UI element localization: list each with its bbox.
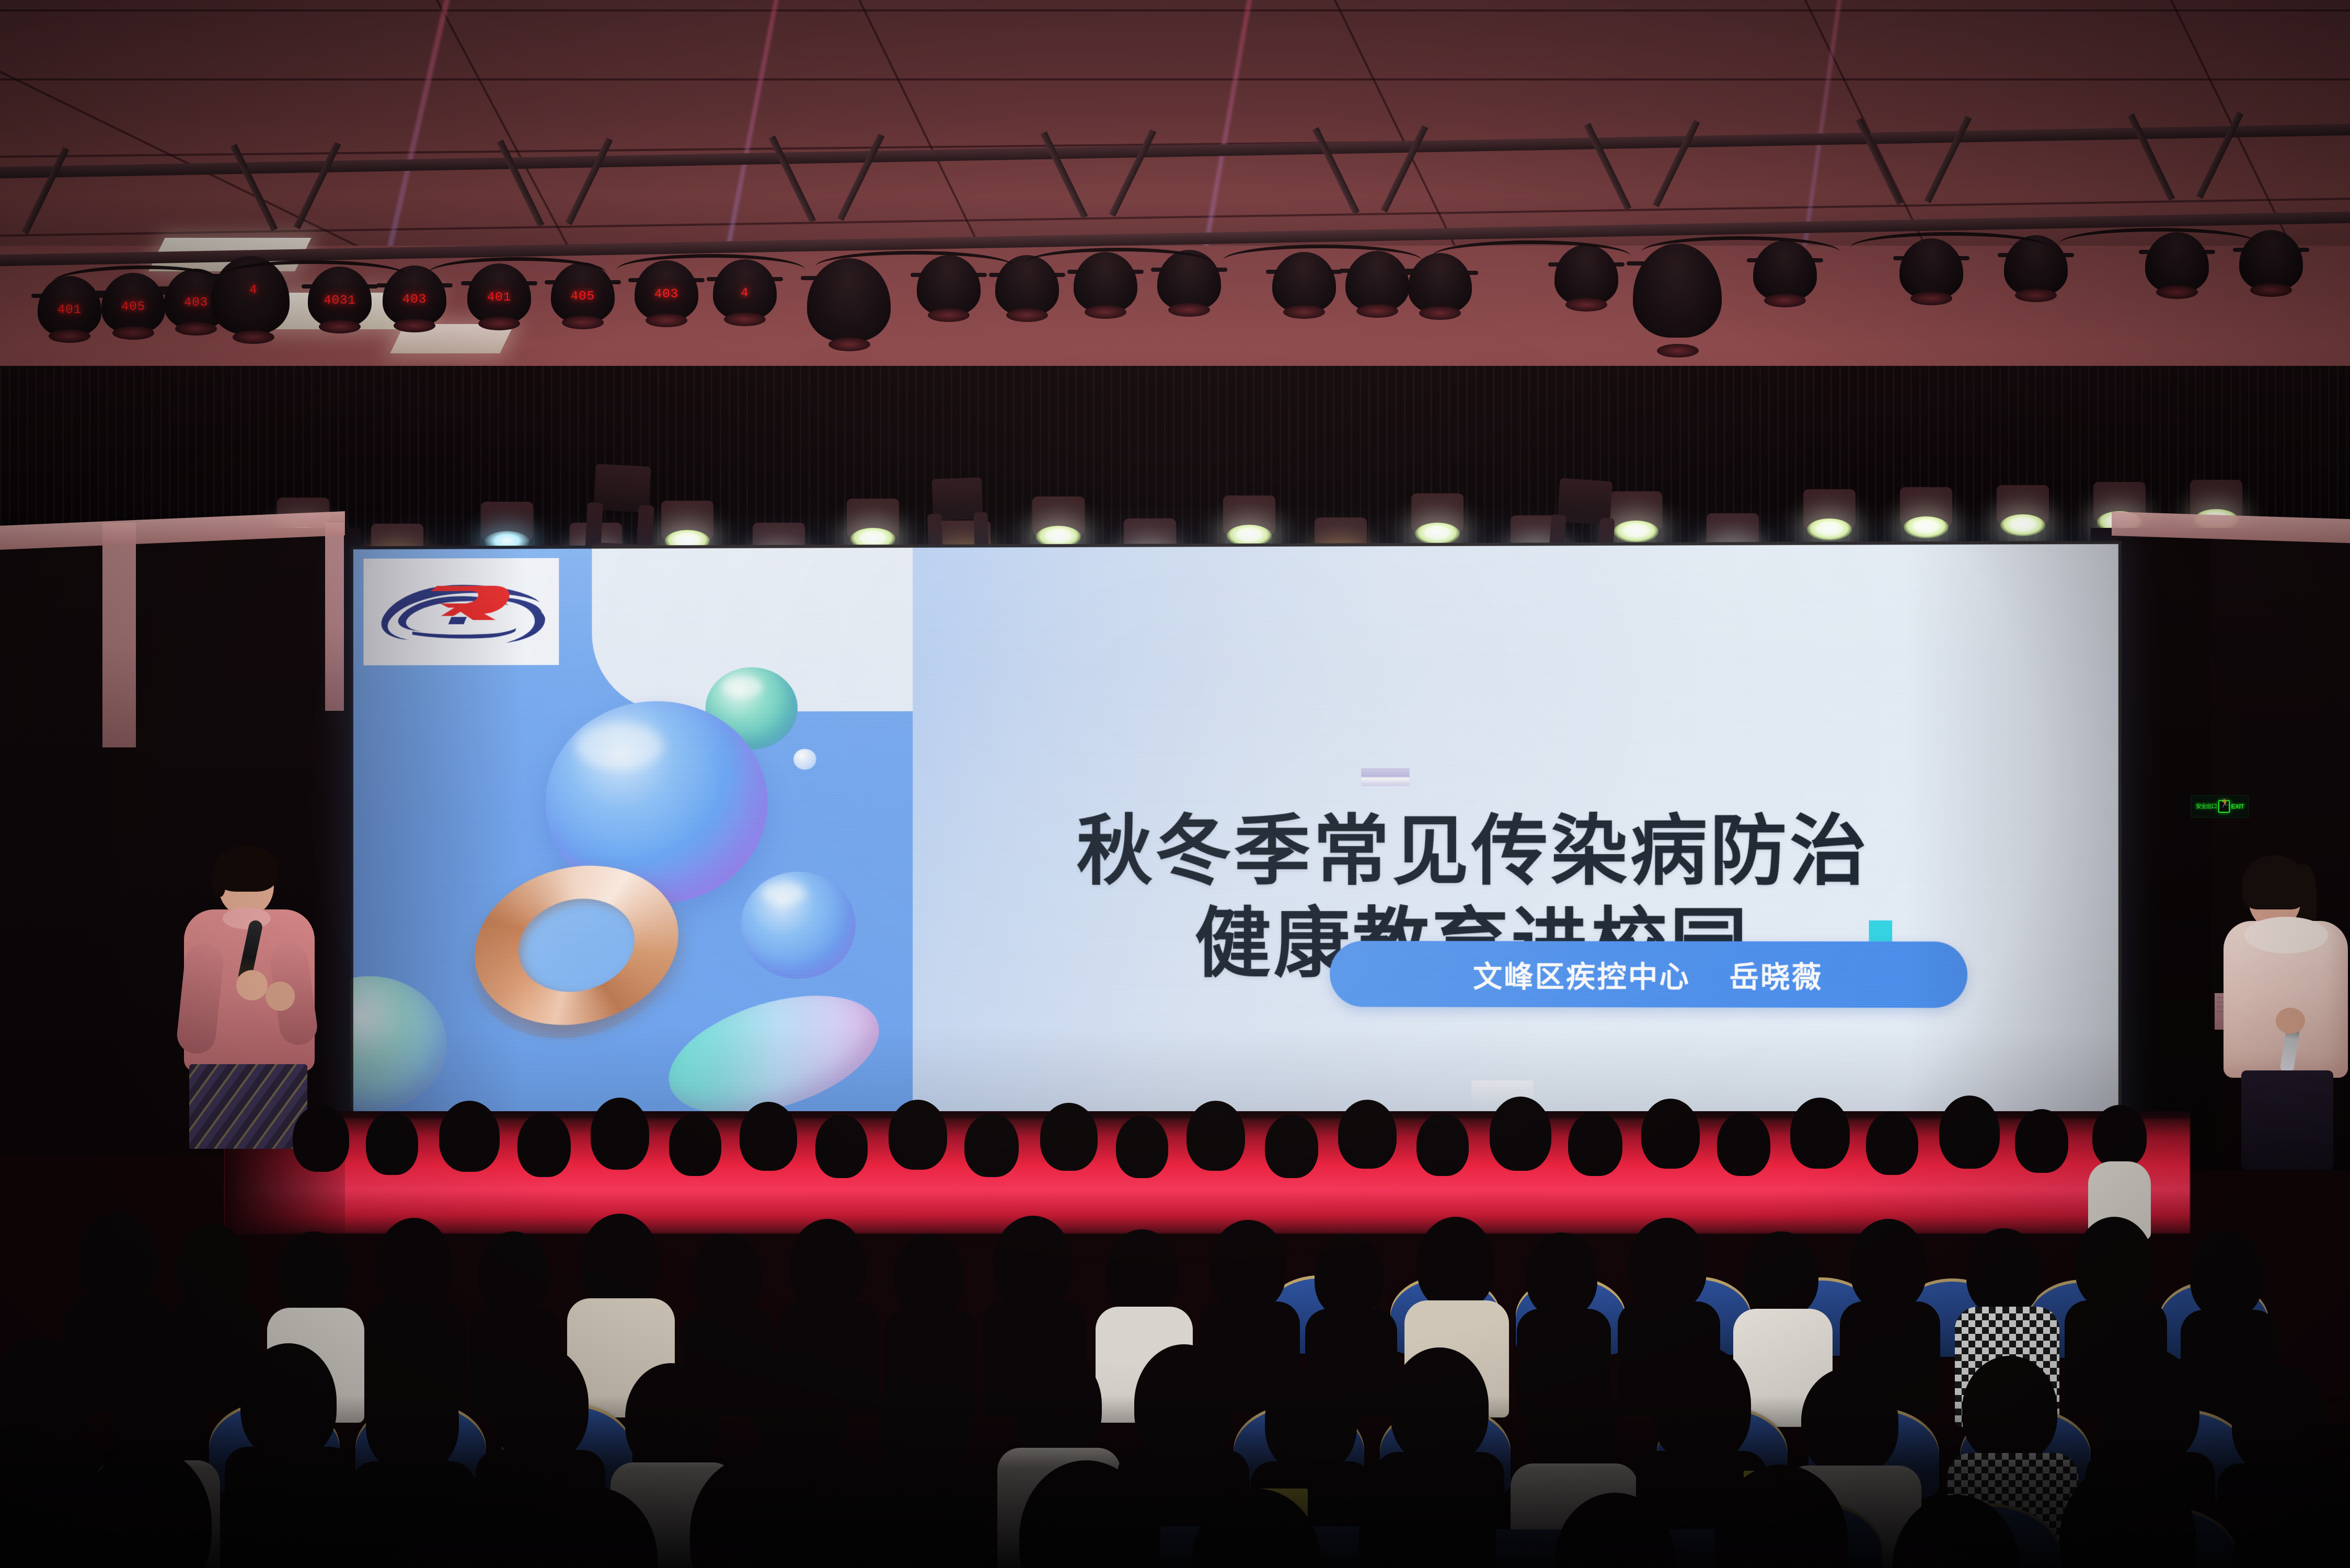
lighting-cable: [2059, 228, 2258, 259]
cdc-logo-mark: [376, 570, 546, 654]
staff-collar: [2244, 917, 2328, 953]
stage-wash-light: [1406, 493, 1469, 550]
running-man-icon: [2218, 800, 2230, 813]
decorative-bubble-dot: [793, 749, 816, 770]
par-can-led-readout: 401: [487, 291, 511, 305]
slide-title-line-1: 秋冬季常见传染病防治: [887, 804, 2063, 897]
lighting-cable: [220, 260, 408, 292]
par-can-led-readout: 403: [402, 293, 427, 307]
title-accent-tick: [1361, 768, 1409, 786]
slide-accent-square: [1869, 920, 1893, 943]
cdc-logo: [363, 558, 559, 665]
par-can-led-readout: 403: [654, 287, 678, 302]
audience: [0, 1077, 2350, 1568]
stage-wash-light: [1991, 485, 2054, 541]
lighting-cable: [815, 251, 1014, 282]
stage-wash-light: [1895, 487, 1957, 544]
wall-pilaster: [325, 523, 344, 711]
par-can-led-readout: 401: [57, 303, 82, 317]
par-can-led-readout: 4031: [324, 294, 356, 308]
lighting-cable: [1432, 240, 1631, 272]
lighting-cable: [1641, 236, 1840, 268]
presentation-slide: 秋冬季常见传染病防治 健康教育进校园 文峰区疾控中心 岳晓薇: [350, 541, 2122, 1137]
foreground-shadow-band: [0, 1396, 2350, 1568]
presenter-hand: [266, 982, 295, 1011]
lighting-cable: [429, 257, 606, 289]
exit-sign-chinese-label: 安全出口: [2196, 804, 2217, 810]
decorative-bubble-small: [741, 872, 856, 979]
exit-sign-english-label: EXIT: [2231, 803, 2244, 810]
presenter-hair: [214, 846, 278, 892]
auditorium-scene: 401 405 403 4 4031 403 401 405 403: [0, 0, 2350, 1568]
slide-byline-text: 文峰区疾控中心 岳晓薇: [1473, 953, 1823, 996]
par-can-led-readout: 405: [571, 290, 595, 304]
lighting-cable: [1024, 248, 1213, 279]
presenter-collar: [223, 907, 271, 929]
exit-sign: 安全出口 EXIT: [2191, 795, 2249, 818]
led-video-wall: 秋冬季常见传染病防治 健康教育进校园 文峰区疾控中心 岳晓薇: [350, 541, 2122, 1137]
slide-byline-pill: 文峰区疾控中心 岳晓薇: [1330, 941, 1967, 1008]
stage-right-curtain: [2117, 538, 2211, 1171]
staff-hand: [2276, 1008, 2305, 1034]
wall-pilaster: [102, 523, 136, 747]
lighting-cable: [1850, 232, 2049, 263]
truss-top-chord: [0, 123, 2350, 179]
lighting-cable: [1223, 245, 1422, 276]
staff-hair: [2242, 855, 2306, 909]
par-can-led-readout: 405: [121, 300, 145, 314]
stage-wash-light: [1798, 489, 1861, 546]
presenter-hand: [236, 970, 268, 1000]
par-can-led-readout: 4: [741, 286, 748, 301]
lighting-cable: [617, 254, 805, 285]
